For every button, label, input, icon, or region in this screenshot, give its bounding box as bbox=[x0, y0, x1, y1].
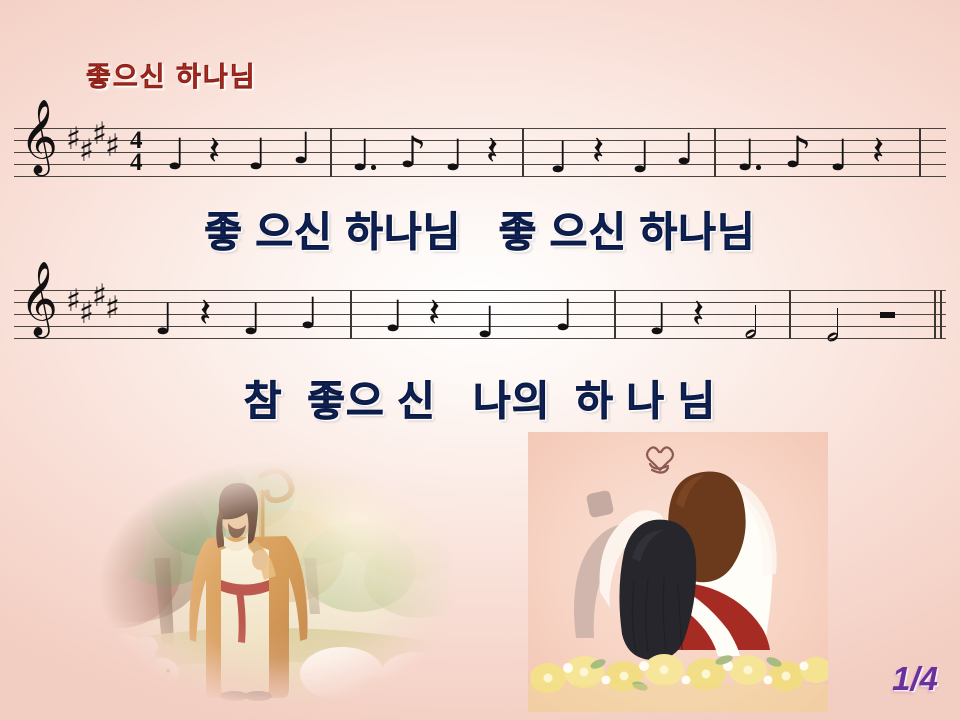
key-sharp-icon: ♯ bbox=[105, 293, 120, 324]
quarter-rest: 𝄽 bbox=[692, 294, 704, 334]
eighth-note: ♪ bbox=[784, 132, 811, 175]
treble-clef-icon: 𝄞 bbox=[20, 267, 58, 331]
key-sharp-icon: ♯ bbox=[105, 131, 120, 162]
quarter-note: ♩ bbox=[444, 135, 464, 178]
quarter-rest: 𝄽 bbox=[592, 131, 604, 171]
barline bbox=[714, 128, 716, 177]
treble-clef-icon: 𝄞 bbox=[20, 105, 58, 169]
quarter-note: ♩ bbox=[247, 134, 267, 177]
dotted-quarter-note: ♩ bbox=[736, 135, 756, 178]
quarter-note: ♩ bbox=[648, 299, 668, 342]
quarter-rest: 𝄽 bbox=[872, 131, 884, 171]
barline bbox=[789, 290, 791, 339]
quarter-rest: 𝄽 bbox=[208, 131, 220, 171]
page-indicator: 1/4 bbox=[892, 660, 938, 698]
quarter-note: ♩ bbox=[166, 134, 186, 177]
quarter-note: ♩ bbox=[154, 299, 174, 342]
barline bbox=[614, 290, 616, 339]
quarter-note: ♩ bbox=[554, 295, 574, 338]
barline bbox=[522, 128, 524, 177]
final-barline-thick bbox=[940, 290, 942, 339]
quarter-note: ♩ bbox=[242, 299, 262, 342]
quarter-rest: 𝄽 bbox=[486, 131, 498, 171]
quarter-rest: 𝄽 bbox=[199, 293, 211, 333]
quarter-note: ♩ bbox=[299, 293, 319, 336]
quarter-note: ♩ bbox=[549, 137, 569, 180]
half-note: 𝅗𝅥 bbox=[744, 303, 758, 346]
page-title: 좋으신 하나님 bbox=[86, 55, 257, 94]
quarter-note: ♩ bbox=[631, 137, 651, 180]
barline bbox=[350, 290, 352, 339]
quarter-note: ♩ bbox=[384, 296, 404, 339]
slide-canvas: 좋으신 하나님 𝄞 ♯ ♯ ♯ ♯ 4 4 ♩ 𝄽 ♩ ♩ ♩ ♪ ♩ 𝄽 ♩ … bbox=[0, 0, 960, 720]
dotted-quarter-note: ♩ bbox=[351, 135, 371, 178]
half-rest bbox=[880, 312, 895, 318]
quarter-note: ♩ bbox=[292, 128, 312, 171]
final-barline-thin bbox=[934, 290, 936, 339]
quarter-note: ♩ bbox=[675, 129, 695, 172]
augmentation-dot bbox=[371, 165, 376, 170]
staff-system-1: 𝄞 ♯ ♯ ♯ ♯ 4 4 ♩ 𝄽 ♩ ♩ ♩ ♪ ♩ 𝄽 ♩ 𝄽 ♩ ♩ ♩ … bbox=[14, 116, 946, 184]
quarter-note: ♩ bbox=[476, 302, 496, 345]
quarter-note: ♩ bbox=[829, 135, 849, 178]
jesus-good-shepherd-image bbox=[58, 438, 482, 720]
couple-embracing-image bbox=[528, 432, 828, 712]
quarter-rest: 𝄽 bbox=[428, 293, 440, 333]
augmentation-dot bbox=[756, 165, 761, 170]
barline bbox=[919, 128, 921, 177]
lyric-line-1: 좋 으신 하나님 좋 으신 하나님 bbox=[0, 198, 960, 258]
time-signature-denominator: 4 bbox=[130, 150, 143, 175]
barline bbox=[330, 128, 332, 177]
lyric-line-2: 참 좋으 신 나의 하 나 님 bbox=[0, 367, 960, 427]
half-note: 𝅗𝅥 bbox=[826, 306, 840, 349]
eighth-note: ♪ bbox=[399, 132, 426, 175]
staff-system-2: 𝄞 ♯ ♯ ♯ ♯ ♩ 𝄽 ♩ ♩ ♩ 𝄽 ♩ ♩ ♩ 𝄽 𝅗𝅥 𝅗𝅥 bbox=[14, 278, 946, 346]
